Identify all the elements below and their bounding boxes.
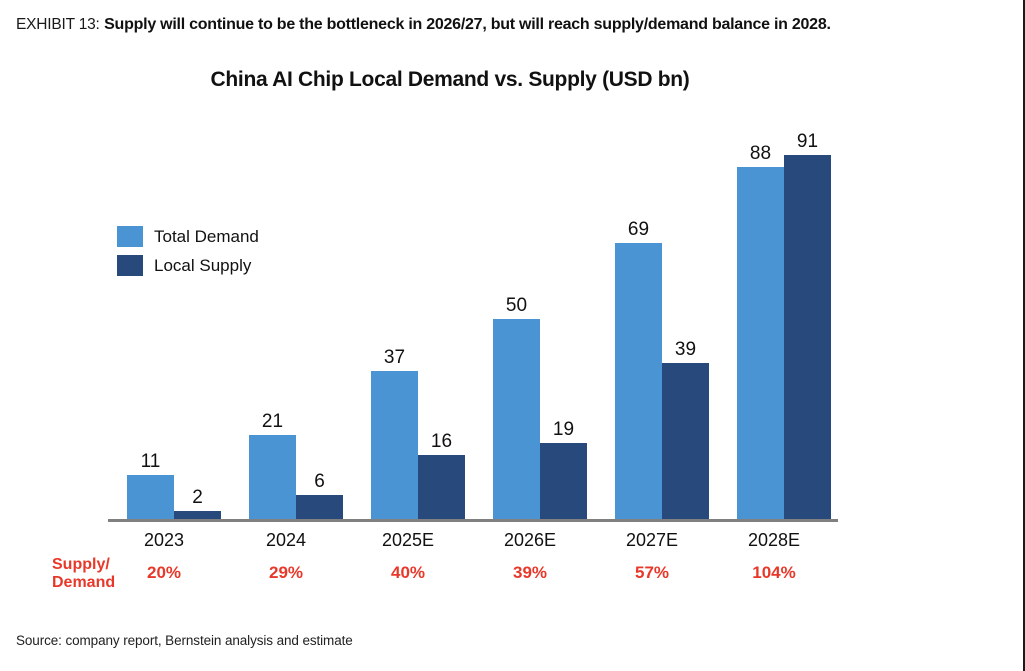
bar-supply: 16 xyxy=(418,455,465,519)
exhibit-header: EXHIBIT 13: Supply will continue to be t… xyxy=(16,14,1006,38)
bar-value-label: 6 xyxy=(314,472,325,491)
ratio-value-2028e: 104% xyxy=(718,563,830,583)
bar-value-label: 39 xyxy=(675,340,696,359)
bar-supply: 6 xyxy=(296,495,343,519)
ratio-value-2027e: 57% xyxy=(596,563,708,583)
ratio-value-2023: 20% xyxy=(108,563,220,583)
bar-group: 88 91 xyxy=(718,120,830,519)
bar-supply: 91 xyxy=(784,155,831,519)
bar-value-label: 16 xyxy=(431,432,452,451)
x-axis-label-2024: 2024 xyxy=(230,530,342,551)
source-note: Source: company report, Bernstein analys… xyxy=(16,633,353,648)
exhibit-page: EXHIBIT 13: Supply will continue to be t… xyxy=(0,0,1025,671)
bar-value-label: 19 xyxy=(553,420,574,439)
bar-demand: 50 xyxy=(493,319,540,519)
legend-item-local-supply: Local Supply xyxy=(117,251,357,280)
ratio-value-2024: 29% xyxy=(230,563,342,583)
bar-supply: 2 xyxy=(174,511,221,519)
exhibit-headline: Supply will continue to be the bottlenec… xyxy=(104,16,831,33)
chart-title: China AI Chip Local Demand vs. Supply (U… xyxy=(0,68,900,92)
ratio-value-2026e: 39% xyxy=(474,563,586,583)
chart-legend: Total Demand Local Supply xyxy=(117,222,357,280)
bar-value-label: 2 xyxy=(192,488,203,507)
legend-swatch-supply xyxy=(117,255,143,276)
bar-value-label: 50 xyxy=(506,296,527,315)
bar-value-label: 69 xyxy=(628,220,649,239)
bar-group: 50 19 xyxy=(474,120,586,519)
bar-demand: 69 xyxy=(615,243,662,519)
x-axis-label-2023: 2023 xyxy=(108,530,220,551)
bar-value-label: 21 xyxy=(262,412,283,431)
bar-value-label: 11 xyxy=(141,452,161,471)
bar-group: 11 2 xyxy=(108,120,220,519)
exhibit-number-label: EXHIBIT 13: xyxy=(16,16,100,33)
bar-group: 69 39 xyxy=(596,120,708,519)
legend-label: Total Demand xyxy=(154,228,259,245)
bar-demand: 88 xyxy=(737,167,784,519)
bar-group: 37 16 xyxy=(352,120,464,519)
bar-demand: 11 xyxy=(127,475,174,519)
legend-item-total-demand: Total Demand xyxy=(117,222,357,251)
x-axis-line xyxy=(108,519,838,522)
bar-supply: 39 xyxy=(662,363,709,519)
x-axis-label-2027e: 2027E xyxy=(596,530,708,551)
bar-supply: 19 xyxy=(540,443,587,519)
bar-demand: 37 xyxy=(371,371,418,519)
bar-demand: 21 xyxy=(249,435,296,519)
chart-plot-area: 11 2 21 6 37 16 50 xyxy=(108,120,838,522)
legend-label: Local Supply xyxy=(154,257,251,274)
x-axis-label-2025e: 2025E xyxy=(352,530,464,551)
bar-value-label: 88 xyxy=(750,144,771,163)
bar-value-label: 91 xyxy=(797,132,818,151)
bar-group: 21 6 xyxy=(230,120,342,519)
x-axis-label-2028e: 2028E xyxy=(718,530,830,551)
ratio-value-2025e: 40% xyxy=(352,563,464,583)
legend-swatch-demand xyxy=(117,226,143,247)
x-axis-label-2026e: 2026E xyxy=(474,530,586,551)
bar-value-label: 37 xyxy=(384,348,405,367)
